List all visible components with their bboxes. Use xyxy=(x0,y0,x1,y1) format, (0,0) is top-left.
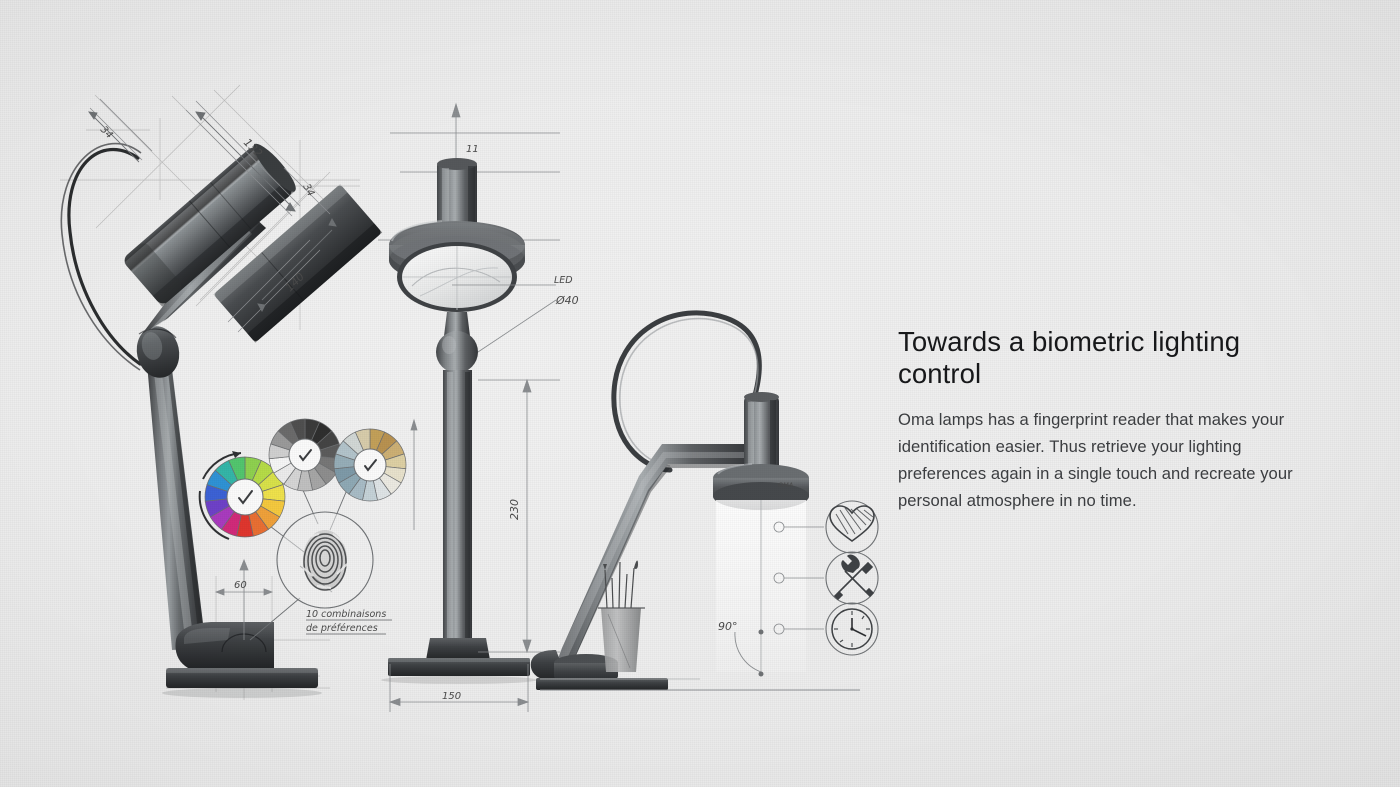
annotation-shade-small: OMA xyxy=(778,481,793,489)
text-panel: Towards a biometric lighting control Oma… xyxy=(898,326,1298,514)
dim-center-height: 230 xyxy=(508,499,521,520)
dim-center-base-width: 150 xyxy=(442,691,461,702)
pencil-cup xyxy=(598,561,645,672)
clock-icon[interactable] xyxy=(826,603,878,655)
preference-callouts: 10 combinaisons de préférences xyxy=(200,419,406,640)
dim-left-base-width: 60 xyxy=(234,580,247,591)
annotation-angle: 90° xyxy=(718,620,738,633)
lamp-front-elevation-view: 11 xyxy=(378,104,579,712)
dim-left-head-small-2: 34 xyxy=(300,182,316,199)
annotation-diameter: Ø40 xyxy=(555,294,579,307)
dim-left-head-small: 34 xyxy=(98,124,115,141)
heart-icon[interactable] xyxy=(826,501,878,553)
tools-icon[interactable] xyxy=(826,552,878,604)
handwritten-note-line1: 10 combinaisons xyxy=(306,609,386,620)
lamp-side-elevation-view: OMA 90° xyxy=(531,313,860,690)
fingerprint-reader-detail[interactable] xyxy=(277,512,373,608)
annotation-led: LED xyxy=(554,275,573,286)
handwritten-note-line2: de préférences xyxy=(306,623,378,634)
warmcool-preference-wheel[interactable] xyxy=(334,429,406,501)
grayscale-preference-wheel[interactable] xyxy=(269,419,341,491)
page-title: Towards a biometric lighting control xyxy=(898,326,1298,391)
feature-icon-group xyxy=(826,501,878,655)
body-paragraph: Oma lamps has a fingerprint reader that … xyxy=(898,407,1298,515)
dim-center-top: 11 xyxy=(466,144,479,155)
construction-lines xyxy=(60,85,360,700)
